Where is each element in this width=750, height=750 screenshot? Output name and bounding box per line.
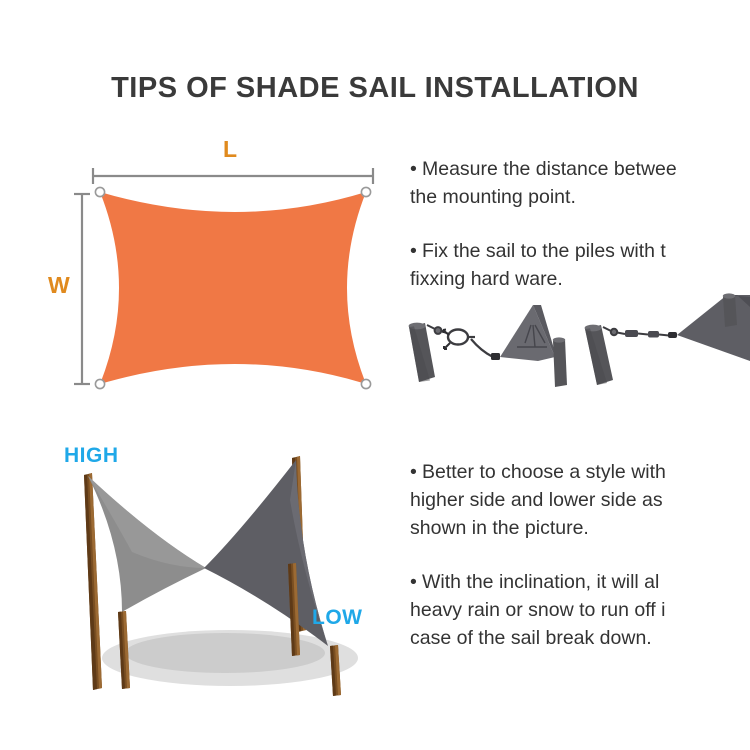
tips-bottom-list: •Better to choose a style with higher si… <box>410 458 666 652</box>
tip-line: •Better to choose a style with <box>410 458 666 486</box>
tip-line: higher side and lower side as <box>410 486 666 514</box>
mounting-pole-icon <box>409 323 435 382</box>
tip-item: •Better to choose a style with higher si… <box>410 458 666 542</box>
tips-top-list: •Measure the distance betwee the mountin… <box>410 155 677 293</box>
width-dimension-line <box>74 194 90 384</box>
tip-item: •Measure the distance betwee the mountin… <box>410 155 677 211</box>
length-dimension-line <box>93 168 373 184</box>
page-title: TIPS OF SHADE SAIL INSTALLATION <box>0 72 750 105</box>
tip-item: •With the inclination, it will al heavy … <box>410 568 666 652</box>
high-low-sail-scene: HIGH LOW <box>40 440 410 705</box>
length-label: L <box>223 136 237 163</box>
rope <box>471 339 493 357</box>
sail-corner <box>500 305 557 361</box>
hardware-left <box>409 305 567 387</box>
turnbuckle-icon <box>443 330 475 350</box>
tip-line: •Measure the distance betwee <box>410 155 677 183</box>
infographic-page: TIPS OF SHADE SAIL INSTALLATION <box>0 0 750 750</box>
tip-text: Measure the distance betwee <box>422 158 677 180</box>
shade-sail-dimension-diagram: L W <box>60 140 405 405</box>
high-label: HIGH <box>64 444 119 468</box>
tip-text: With the inclination, it will al <box>422 571 659 593</box>
sail-corner <box>677 295 750 361</box>
hardware-illustrations <box>405 285 750 390</box>
tip-line: the mounting point. <box>410 183 677 211</box>
low-label: LOW <box>312 606 362 630</box>
sail-dark <box>204 460 328 646</box>
tip-text: Fix the sail to the piles with t <box>422 240 666 262</box>
grommet-icon <box>95 187 104 196</box>
tip-text: Better to choose a style with <box>422 461 666 483</box>
bullet-icon: • <box>410 155 422 183</box>
tip-line: case of the sail break down. <box>410 624 666 652</box>
bullet-icon: • <box>410 237 422 265</box>
hardware-right <box>585 293 750 385</box>
turnbuckle-chain-icon <box>603 327 677 338</box>
mounting-pole-icon <box>585 325 613 385</box>
sail-shape <box>100 192 366 384</box>
clip-icon <box>491 353 500 360</box>
width-label: W <box>48 272 70 299</box>
tip-line: •Fix the sail to the piles with t <box>410 237 677 265</box>
bullet-icon: • <box>410 458 422 486</box>
sail-light-shade <box>88 476 206 568</box>
tip-line: •With the inclination, it will al <box>410 568 666 596</box>
bullet-icon: • <box>410 568 422 596</box>
wooden-post <box>84 473 102 690</box>
mounting-pole-icon <box>553 337 567 387</box>
tip-line: heavy rain or snow to run off i <box>410 596 666 624</box>
mounting-pole-icon <box>723 293 737 327</box>
grommet-icon <box>95 379 104 388</box>
grommet-icon <box>361 187 370 196</box>
grommet-icon <box>361 379 370 388</box>
tip-line: shown in the picture. <box>410 514 666 542</box>
